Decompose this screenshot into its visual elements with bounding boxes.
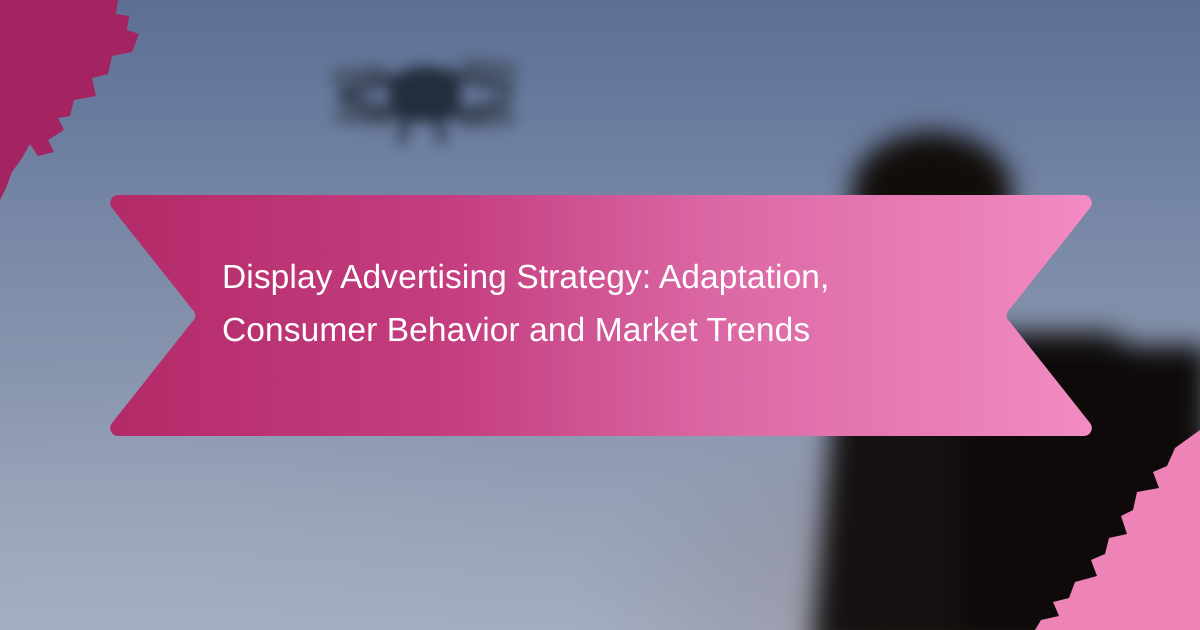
drone-silhouette-icon xyxy=(330,28,520,148)
torn-corner-bottom-right-decoration xyxy=(1025,430,1200,630)
title-ribbon: Display Advertising Strategy: Adaptation… xyxy=(110,195,1092,436)
title-line-2: Consumer Behavior and Market Trends xyxy=(222,304,1012,357)
torn-corner-top-left-decoration xyxy=(0,0,170,215)
page-title: Display Advertising Strategy: Adaptation… xyxy=(222,251,1012,357)
title-line-1: Display Advertising Strategy: Adaptation… xyxy=(222,251,1012,304)
share-card: Display Advertising Strategy: Adaptation… xyxy=(0,0,1200,630)
